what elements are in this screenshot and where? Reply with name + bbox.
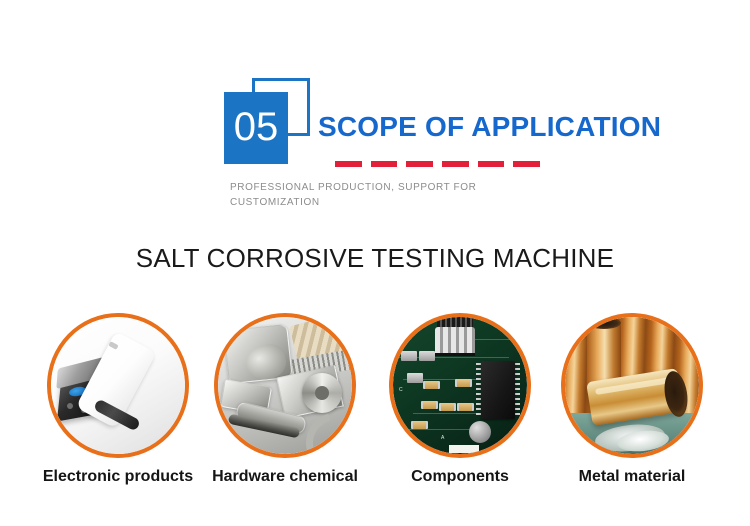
circle-frame: A C [389,313,531,458]
divider-dash [335,161,362,167]
section-title: SCOPE OF APPLICATION [318,111,661,143]
pcb-trace [397,429,477,430]
badge-number-label: 05 [234,107,279,147]
section-subcaption: PROFESSIONAL PRODUCTION, SUPPORT FOR CUS… [230,180,550,210]
photo-hardware [218,317,352,454]
divider-dash [513,161,540,167]
application-card-components[interactable]: A C Components [380,310,540,486]
circle-frame [561,313,703,458]
divider-dash [478,161,505,167]
application-cards-row: Electronic products [0,310,750,500]
pcb-white-pad [449,445,479,453]
metal-material-photo [565,317,699,454]
pcb-silkscreen-label: A [441,435,444,441]
pcb-round-component [469,421,491,443]
section-number-badge: 05 [224,78,310,164]
metal-bearing-ring [302,373,342,413]
circle-frame [47,313,189,458]
photo-circuit-board: A C [393,317,527,454]
hardware-chemical-photo [218,317,352,454]
header-block: 05 SCOPE OF APPLICATION PROFESSIONAL PRO… [0,0,750,230]
photo-electronics [51,317,185,454]
badge-filled-square: 05 [224,92,288,164]
pcb-smd-component [401,351,417,361]
application-card-hardware-chemical[interactable]: Hardware chemical [205,310,365,486]
application-card-metal-material[interactable]: Metal material [552,310,712,486]
divider-dash [371,161,398,167]
photo-copper-rolls [565,317,699,454]
pcb-resistor [423,381,440,389]
card-caption: Hardware chemical [205,468,365,486]
pcb-smd-component [407,373,423,383]
card-caption: Electronic products [38,468,198,486]
card-caption: Metal material [552,468,712,486]
pcb-connector [437,317,473,327]
circle-frame [214,313,356,458]
pcb-resistor [455,379,472,387]
divider-dash [442,161,469,167]
pcb-resistor [421,401,438,409]
components-photo: A C [393,317,527,454]
integrated-circuit-chip [481,361,515,419]
divider-dash [406,161,433,167]
pcb-silkscreen-label: C [399,387,403,393]
metal-block-part [223,324,292,384]
red-dashed-divider [335,161,540,167]
device-button [67,403,73,409]
pcb-smd-component [419,351,435,361]
pcb-resistor [411,421,428,429]
slide-canvas: 05 SCOPE OF APPLICATION PROFESSIONAL PRO… [0,0,750,526]
electronic-products-photo [51,317,185,454]
page-title: SALT CORROSIVE TESTING MACHINE [0,243,750,274]
pcb-resistor [439,403,456,411]
card-caption: Components [380,468,540,486]
pcb-capacitor-bank [435,327,475,356]
application-card-electronic-products[interactable]: Electronic products [38,310,198,486]
pcb-resistor [457,403,474,411]
